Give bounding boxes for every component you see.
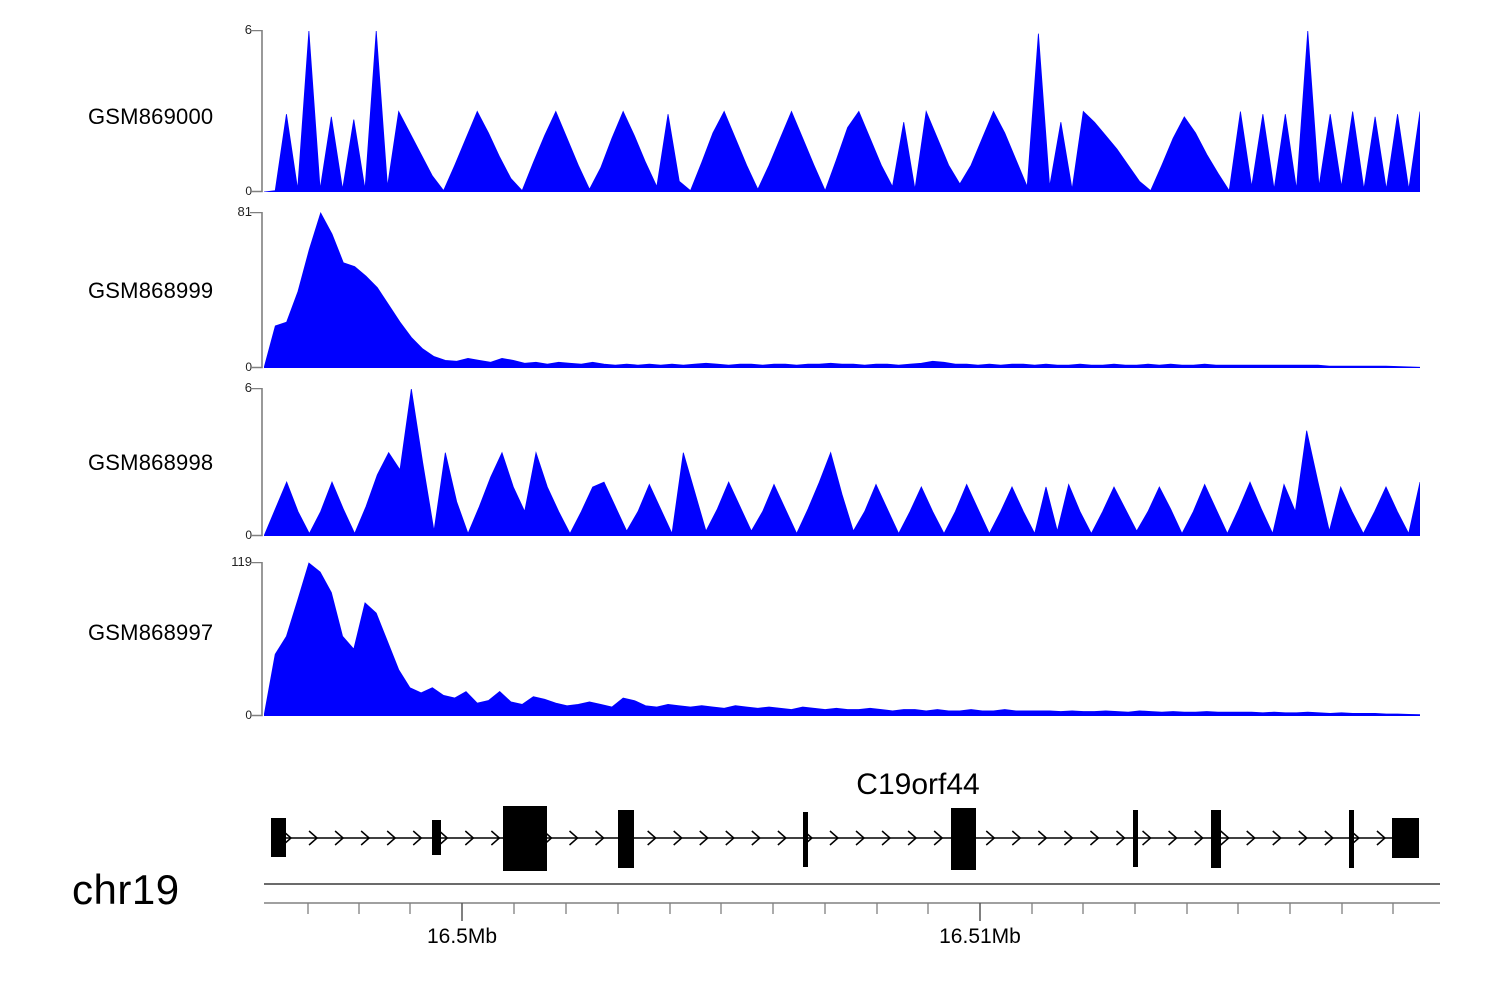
exon-block [1211,810,1221,868]
exon-block [803,812,808,867]
track-label-gsm868998: GSM868998 [88,450,213,476]
y-axis-bracket [250,212,264,370]
axis-max-label: 81 [212,204,252,219]
axis-min-label: 0 [212,184,252,198]
coverage-area-gsm868997 [264,562,1420,716]
axis-min-label: 0 [212,708,252,722]
axis-min-label: 0 [212,528,252,542]
ruler-coordinate-label: 16.51Mb [939,925,1021,949]
axis-min-label: 0 [212,360,252,374]
coverage-area-gsm869000 [264,30,1420,192]
exon-block [1349,810,1354,868]
y-axis-bracket [250,30,264,194]
exon-block [1133,810,1138,867]
chromosome-label: chr19 [72,866,180,914]
gene-model-svg [0,760,1500,980]
exon-block [1392,818,1419,858]
y-axis-bracket [250,562,264,718]
ruler-coordinate-label: 16.5Mb [427,925,497,949]
gene-model-panel: C19orf44 [0,760,1500,980]
y-axis-bracket [250,388,264,538]
track-label-gsm868999: GSM868999 [88,278,213,304]
exon-block [618,810,634,868]
axis-max-label: 6 [212,380,252,395]
axis-max-label: 6 [212,22,252,37]
coverage-area-gsm868998 [264,388,1420,536]
track-label-gsm868997: GSM868997 [88,620,213,646]
exon-block [432,820,441,855]
coverage-area-gsm868999 [264,212,1420,368]
exon-block [271,818,286,857]
track-label-gsm869000: GSM869000 [88,104,213,130]
axis-max-label: 119 [212,554,252,569]
exon-block [951,808,976,870]
gene-name-label: C19orf44 [856,768,979,802]
exon-block [503,806,547,871]
